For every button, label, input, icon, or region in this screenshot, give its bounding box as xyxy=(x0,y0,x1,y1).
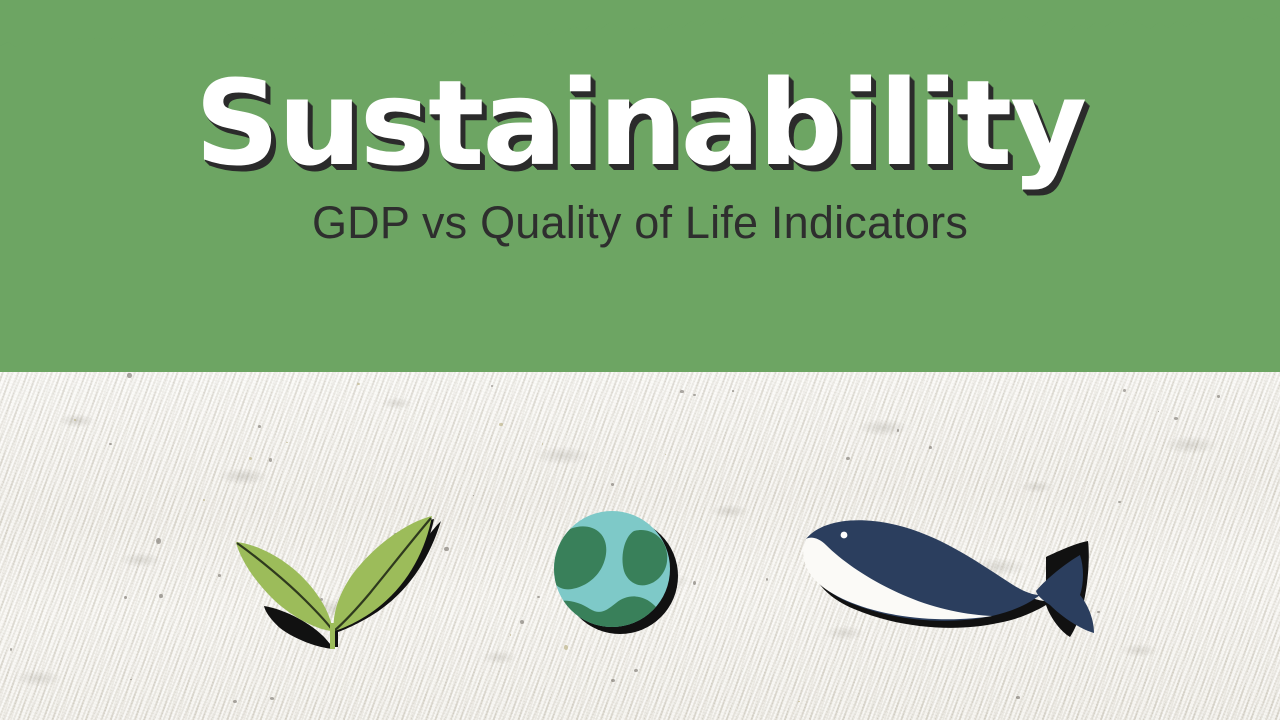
paper-fleck xyxy=(846,457,850,460)
paper-fleck xyxy=(1174,417,1179,421)
paper-fleck xyxy=(130,679,132,681)
paper-fleck xyxy=(542,443,544,445)
paper-fleck xyxy=(680,390,684,393)
paper-fleck xyxy=(897,429,899,432)
paper-fleck xyxy=(286,442,288,443)
paper-fleck xyxy=(665,454,667,455)
page-subtitle: GDP vs Quality of Life Indicators xyxy=(0,198,1280,248)
paper-fleck xyxy=(491,385,493,387)
paper-fleck xyxy=(233,700,237,703)
leaf-stem xyxy=(330,623,335,649)
sustainability-title-slide: Sustainability GDP vs Quality of Life In… xyxy=(0,0,1280,720)
paper-fleck xyxy=(109,443,112,445)
paper-fleck xyxy=(499,423,502,426)
paper-fleck xyxy=(249,457,252,460)
paper-fleck xyxy=(732,390,734,392)
paper-fleck xyxy=(357,383,359,386)
eco-icon-row xyxy=(0,505,1280,655)
paper-fleck xyxy=(611,679,615,682)
paper-fleck xyxy=(473,495,475,496)
paper-fleck xyxy=(634,669,638,672)
paper-fleck xyxy=(269,458,272,461)
paper-fleck xyxy=(203,499,206,501)
paper-fleck xyxy=(127,373,131,379)
title-block: Sustainability GDP vs Quality of Life In… xyxy=(0,0,1280,248)
paper-fleck xyxy=(611,483,614,486)
paper-fleck xyxy=(929,446,932,449)
paper-fleck xyxy=(798,701,800,703)
paper-fleck xyxy=(1118,501,1121,504)
paper-fleck xyxy=(270,697,274,700)
paper-fleck xyxy=(1016,696,1020,699)
paper-fleck xyxy=(693,394,696,396)
leaf-icon xyxy=(228,505,453,650)
whale-icon xyxy=(792,505,1102,640)
paper-fleck xyxy=(258,425,261,428)
globe-icon xyxy=(548,505,683,640)
whale-eye xyxy=(841,532,848,539)
paper-fleck xyxy=(1123,389,1126,392)
paper-fleck xyxy=(74,419,76,420)
paper-fleck xyxy=(1217,395,1221,398)
page-title: Sustainability xyxy=(0,64,1280,182)
paper-fleck xyxy=(1158,411,1160,412)
